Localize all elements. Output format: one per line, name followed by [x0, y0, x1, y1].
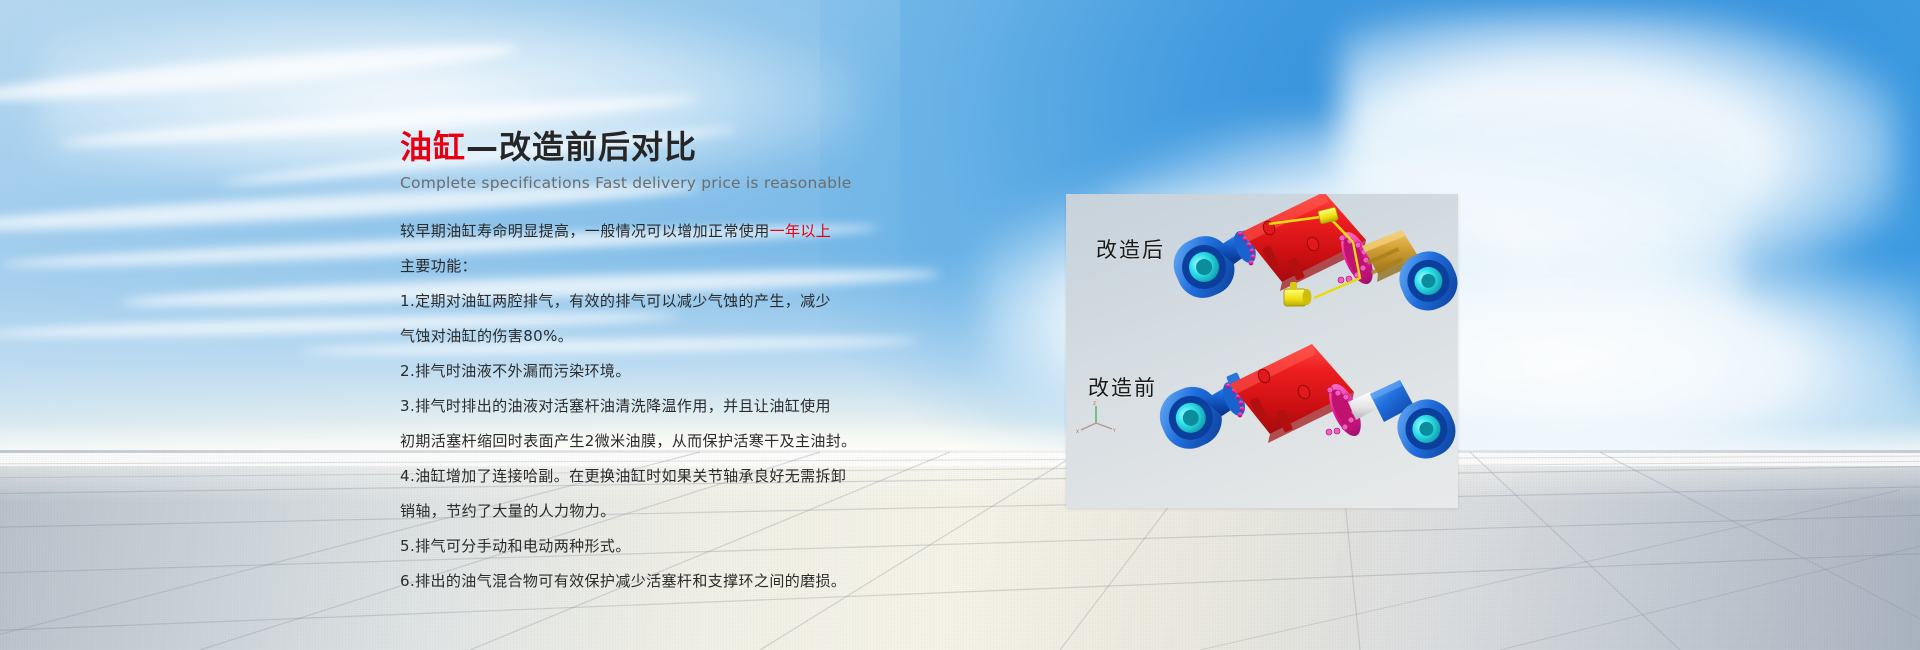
copy-column: 油缸—改造前后对比 Complete specifications Fast d… [400, 128, 960, 603]
feature-line-6: 6.排出的油气混合物可有效保护减少活塞杆和支撑环之间的磨损。 [400, 568, 960, 594]
feature-line-1-cont: 气蚀对油缸的伤害80%。 [400, 323, 960, 349]
sky-background [0, 0, 1920, 455]
label-before-modification: 改造前 [1088, 372, 1157, 402]
feature-description: 较早期油缸寿命明显提高，一般情况可以增加正常使用一年以上 主要功能： 1.定期对… [400, 218, 960, 594]
axis-label-y: Y [1112, 428, 1116, 434]
cylinder-after-modification [1165, 194, 1458, 319]
page-title-rest: —改造前后对比 [466, 128, 697, 166]
intro-line-1-text: 较早期油缸寿命明显提高，一般情况可以增加正常使用 [400, 222, 770, 240]
intro-line-2: 主要功能： [400, 253, 960, 279]
cylinder-before-modification [1151, 344, 1458, 467]
pavement-perspective-lines [0, 450, 1920, 650]
feature-line-2: 2.排气时油液不外漏而污染环境。 [400, 358, 960, 384]
axis-label-x: X [1076, 429, 1079, 435]
pavement-ground [0, 450, 1920, 650]
axis-label-z: Z [1093, 401, 1096, 407]
banner-stage: 油缸—改造前后对比 Complete specifications Fast d… [0, 0, 1920, 650]
label-after-modification: 改造后 [1096, 234, 1165, 264]
feature-line-3: 3.排气时排出的油液对活塞杆油清洗降温作用，并且让油缸使用 [400, 393, 960, 419]
page-title: 油缸—改造前后对比 [400, 128, 960, 166]
intro-line-1: 较早期油缸寿命明显提高，一般情况可以增加正常使用一年以上 [400, 218, 960, 244]
coordinate-axis-icon: Z X Y [1076, 399, 1118, 439]
feature-line-5: 5.排气可分手动和电动两种形式。 [400, 533, 960, 559]
feature-line-1: 1.定期对油缸两腔排气，有效的排气可以减少气蚀的产生，减少 [400, 288, 960, 314]
intro-line-1-highlight: 一年以上 [770, 222, 832, 240]
feature-line-4-cont: 销轴，节约了大量的人力物力。 [400, 498, 960, 524]
feature-line-3-cont: 初期活塞杆缩回时表面产生2微米油膜，从而保护活寒干及主油封。 [400, 428, 960, 454]
page-subtitle: Complete specifications Fast delivery pr… [400, 174, 960, 192]
product-image-panel: 改造后 改造前 Z X Y [1066, 194, 1458, 508]
page-title-highlight: 油缸 [400, 128, 466, 166]
feature-line-4: 4.油缸增加了连接哈副。在更换油缸时如果关节轴承良好无需拆卸 [400, 463, 960, 489]
